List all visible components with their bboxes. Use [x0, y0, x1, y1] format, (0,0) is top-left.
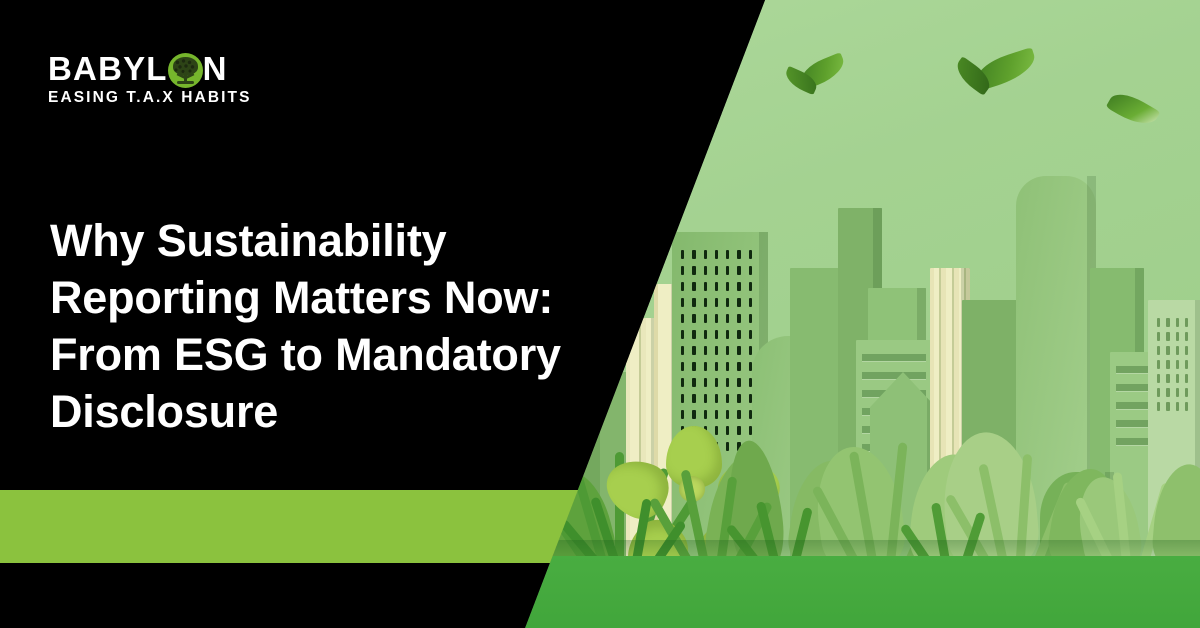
brand-wordmark: BABYLN — [48, 50, 252, 86]
brand-tagline: EASING T.A.X HABITS — [48, 89, 252, 107]
brand-wordmark-post: N — [203, 52, 228, 86]
social-share-banner: BABYLN EASING T.A.X HABITS Why Sustainab… — [0, 0, 1200, 628]
brand-logo[interactable]: BABYLN EASING T.A.X HABITS — [48, 50, 252, 107]
tree-in-circle-icon — [168, 53, 203, 88]
brand-wordmark-pre: BABYL — [48, 52, 168, 86]
page-title: Why Sustainability Reporting Matters Now… — [50, 212, 650, 440]
